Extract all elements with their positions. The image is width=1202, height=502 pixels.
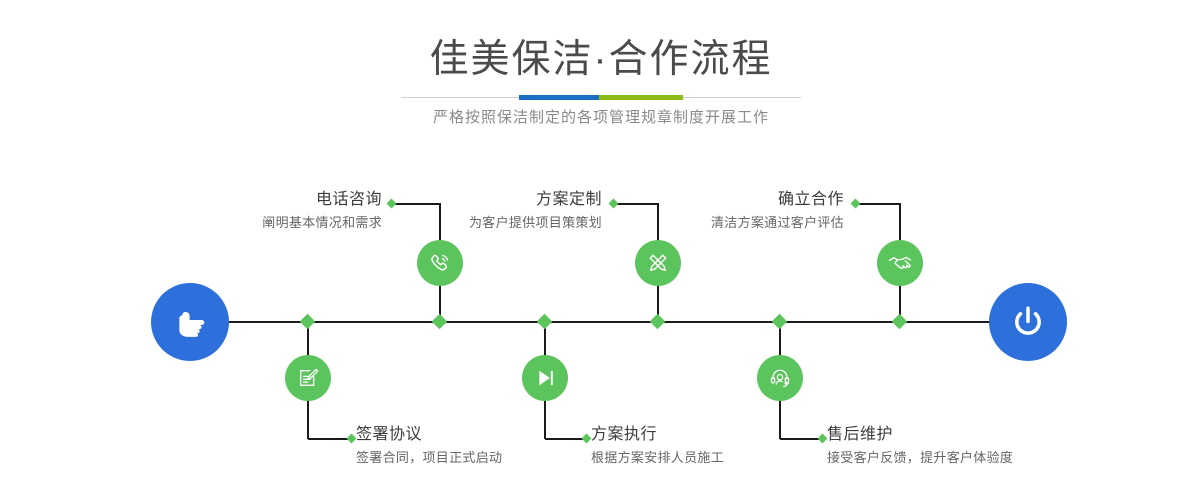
step-3-desc: 为客户提供项目策策划 (330, 213, 602, 232)
step-3-icon-badge[interactable] (635, 240, 681, 286)
step-2-axis-marker (300, 314, 316, 330)
step-3-title: 方案定制 (330, 190, 602, 210)
step-5-title: 确立合作 (572, 190, 844, 210)
timeline-start-node[interactable] (151, 283, 229, 361)
power-icon (1007, 301, 1049, 343)
page-title: 佳美保洁·合作流程 (0, 36, 1202, 84)
step-6-icon-badge[interactable] (757, 355, 803, 401)
pointing-hand-icon (170, 302, 210, 342)
title-divider (401, 95, 801, 100)
step-2-label-marker (347, 434, 357, 444)
handshake-icon (886, 249, 914, 277)
step-5-desc: 清洁方案通过客户评估 (572, 213, 844, 232)
step-1-axis-marker (432, 314, 448, 330)
step-4-icon-badge[interactable] (522, 355, 568, 401)
headset-support-icon (767, 365, 793, 391)
step-2-icon-badge[interactable] (285, 355, 331, 401)
divider-segment-green (599, 95, 683, 100)
step-6-axis-marker (772, 314, 788, 330)
step-5-label-marker (851, 199, 861, 209)
infographic-canvas: 佳美保洁·合作流程 严格按照保洁制定的各项管理规章制度开展工作 (0, 0, 1202, 502)
document-sign-icon (295, 365, 321, 391)
pencil-edit-icon (645, 250, 671, 276)
step-6-label: 售后维护 接受客户反馈，提升客户体验度 (827, 425, 1147, 467)
step-5-icon-badge[interactable] (877, 240, 923, 286)
step-3-label: 方案定制 为客户提供项目策策划 (330, 190, 602, 232)
phone-ring-icon (427, 250, 453, 276)
step-4-axis-marker (537, 314, 553, 330)
page-subtitle: 严格按照保洁制定的各项管理规章制度开展工作 (0, 107, 1202, 129)
step-1-icon-badge[interactable] (417, 240, 463, 286)
step-5-axis-marker (892, 314, 908, 330)
step-6-title: 售后维护 (827, 425, 1147, 445)
step-5-arm (858, 203, 901, 205)
step-3-axis-marker (650, 314, 666, 330)
step-5-label: 确立合作 清洁方案通过客户评估 (572, 190, 844, 232)
step-6-desc: 接受客户反馈，提升客户体验度 (827, 448, 1147, 467)
play-execute-icon (532, 365, 558, 391)
divider-segment-blue (519, 95, 599, 100)
timeline-end-node[interactable] (989, 283, 1067, 361)
